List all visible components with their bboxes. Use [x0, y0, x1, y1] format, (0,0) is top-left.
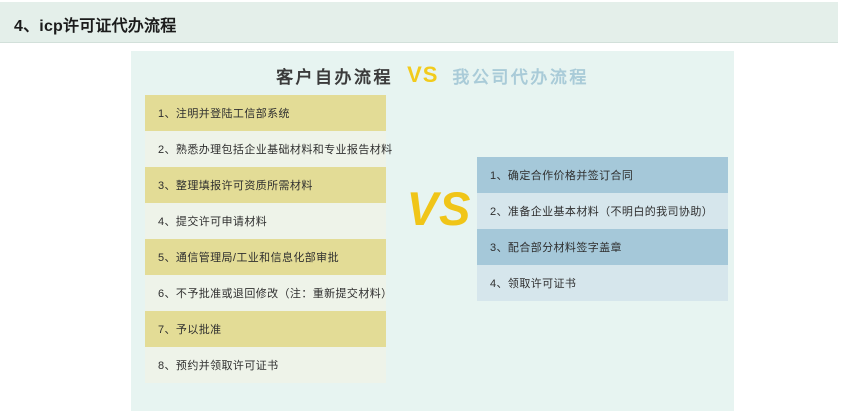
client-flow-heading: 客户自办流程 — [276, 63, 393, 88]
client-flow-list: 1、注明并登陆工信部系统 2、熟悉办理包括企业基础材料和专业报告材料 3、整理填… — [145, 95, 386, 383]
client-flow-step: 2、熟悉办理包括企业基础材料和专业报告材料 — [145, 131, 386, 167]
vs-heading-label: VS — [407, 62, 438, 88]
section-header-bar: 4、icp许可证代办流程 — [0, 2, 838, 43]
comparison-panel: 客户自办流程 VS 我公司代办流程 1、注明并登陆工信部系统 2、熟悉办理包括企… — [131, 51, 734, 411]
client-flow-step: 6、不予批准或退回修改（注：重新提交材料） — [145, 275, 386, 311]
vs-divider-label: VS — [389, 185, 489, 232]
client-flow-step: 8、预约并领取许可证书 — [145, 347, 386, 383]
client-flow-step: 4、提交许可申请材料 — [145, 203, 386, 239]
company-flow-step: 3、配合部分材料签字盖章 — [477, 229, 728, 265]
company-flow-heading: 我公司代办流程 — [452, 63, 589, 88]
client-flow-step: 7、予以批准 — [145, 311, 386, 347]
comparison-heading-row: 客户自办流程 VS 我公司代办流程 — [131, 58, 734, 92]
client-flow-step: 1、注明并登陆工信部系统 — [145, 95, 386, 131]
company-flow-step: 4、领取许可证书 — [477, 265, 728, 301]
company-flow-list: 1、确定合作价格并签订合同 2、准备企业基本材料（不明白的我司协助） 3、配合部… — [477, 157, 728, 301]
company-flow-step: 1、确定合作价格并签订合同 — [477, 157, 728, 193]
client-flow-step: 5、通信管理局/工业和信息化部审批 — [145, 239, 386, 275]
client-flow-step: 3、整理填报许可资质所需材料 — [145, 167, 386, 203]
company-flow-step: 2、准备企业基本材料（不明白的我司协助） — [477, 193, 728, 229]
page-title: 4、icp许可证代办流程 — [14, 12, 176, 36]
